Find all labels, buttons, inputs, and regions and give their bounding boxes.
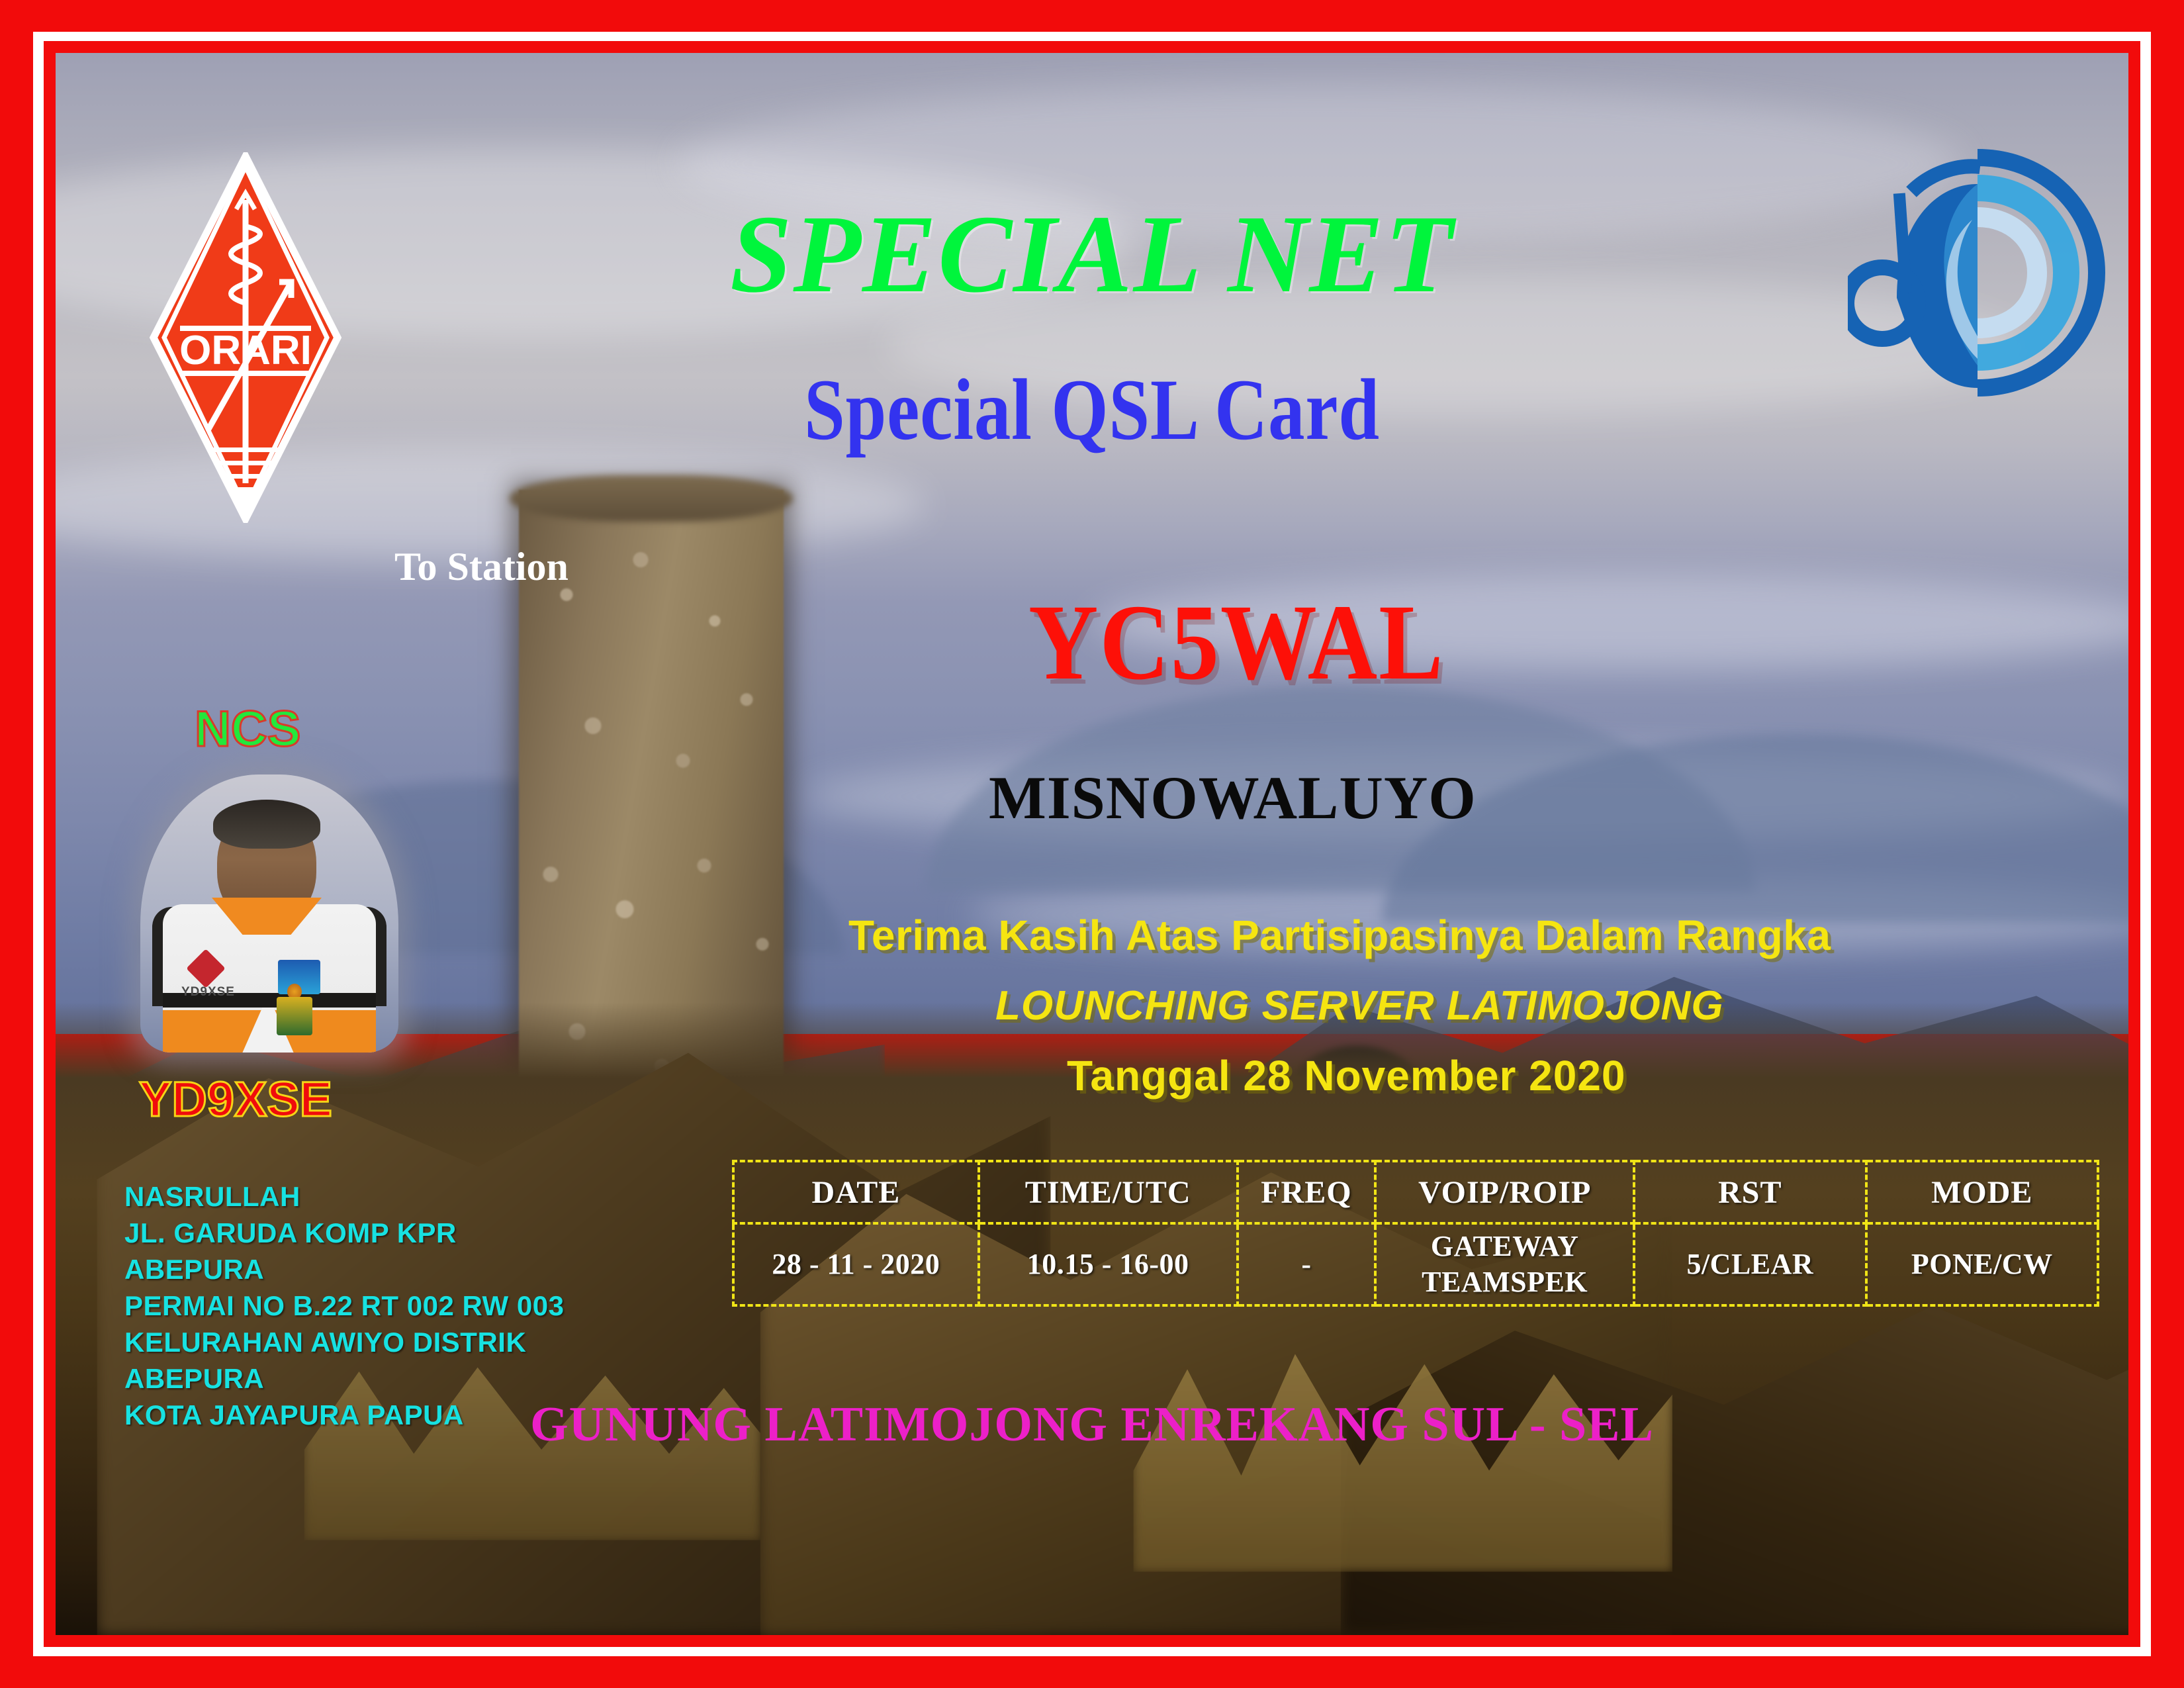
ncs-callsign: YD9XSE [139, 1071, 332, 1127]
cell-mode: PONE/CW [1866, 1223, 2098, 1305]
column-header-date: DATE [733, 1161, 979, 1223]
cell-voip-roip-line1: GATEWAY [1377, 1229, 1632, 1264]
operator-photo: YD9XSE [140, 774, 398, 1053]
address-line: ABEPURA [124, 1360, 564, 1397]
column-header-freq: FREQ [1238, 1161, 1376, 1223]
qsl-card: ORARI [0, 0, 2184, 1688]
mailing-address-block: NASRULLAH JL. GARUDA KOMP KPR ABEPURA PE… [124, 1178, 564, 1433]
qso-log-table: DATE TIME/UTC FREQ VOIP/ROIP RST MODE 28… [732, 1160, 2099, 1307]
location-caption: GUNUNG LATIMOJONG ENREKANG SUL - SEL [56, 1397, 2128, 1453]
column-header-time: TIME/UTC [979, 1161, 1238, 1223]
address-line: KELURAHAN AWIYO DISTRIK [124, 1324, 564, 1360]
operator-name: MISNOWALUYO [989, 763, 1477, 833]
table-header-row: DATE TIME/UTC FREQ VOIP/ROIP RST MODE [733, 1161, 2098, 1223]
operator-uniform-callsign: YD9XSE [181, 985, 235, 1000]
cell-rst: 5/CLEAR [1634, 1223, 1866, 1305]
cell-time: 10.15 - 16-00 [979, 1223, 1238, 1305]
column-header-mode: MODE [1866, 1161, 2098, 1223]
address-line: ABEPURA [124, 1251, 564, 1288]
station-callsign: YC5WAL [1028, 580, 1445, 704]
cell-voip-roip-line2: TEAMSPEK [1377, 1264, 1632, 1300]
cell-date: 28 - 11 - 2020 [733, 1223, 979, 1305]
column-header-voip-roip: VOIP/ROIP [1375, 1161, 1634, 1223]
thanks-line-2: LOUNCHING SERVER LATIMOJONG [995, 982, 1724, 1029]
address-line: PERMAI NO B.22 RT 002 RW 003 [124, 1288, 564, 1324]
column-header-rst: RST [1634, 1161, 1866, 1223]
page-title: SPECIAL NET [56, 191, 2128, 318]
address-line: JL. GARUDA KOMP KPR [124, 1215, 564, 1251]
cell-voip-roip: GATEWAY TEAMSPEK [1375, 1223, 1634, 1305]
thanks-line-3: Tanggal 28 November 2020 [1067, 1051, 1626, 1100]
to-station-label: To Station [394, 544, 569, 590]
card-photo-area: ORARI [56, 53, 2128, 1635]
ncs-label: NCS [195, 700, 300, 758]
thanks-line-1: Terima Kasih Atas Partisipasinya Dalam R… [848, 911, 1831, 960]
cell-freq: - [1238, 1223, 1376, 1305]
table-row: 28 - 11 - 2020 10.15 - 16-00 - GATEWAY T… [733, 1223, 2098, 1305]
page-subtitle: Special QSL Card [222, 359, 1963, 460]
address-line: NASRULLAH [124, 1178, 564, 1215]
